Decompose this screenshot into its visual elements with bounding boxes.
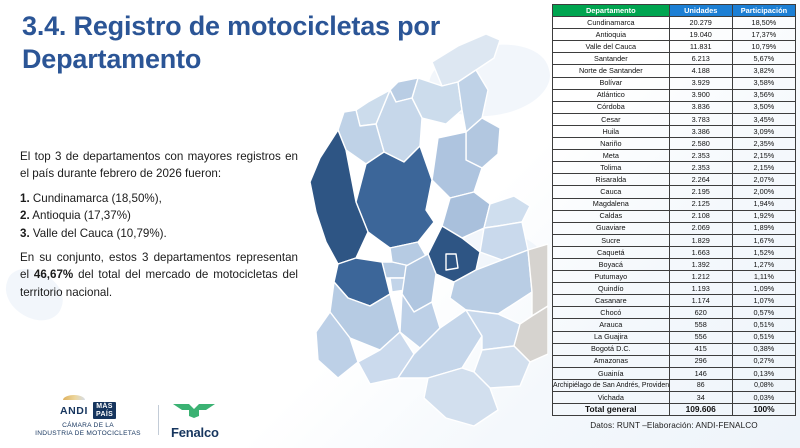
row-department: Chocó xyxy=(553,307,670,319)
table-source-note: Datos: RUNT –Elaboración: ANDI-FENALCO xyxy=(552,421,796,430)
row-units: 1.193 xyxy=(669,283,732,295)
row-units: 146 xyxy=(669,367,732,379)
table-row[interactable]: Antioquia19.04017,37% xyxy=(553,29,796,41)
table-row[interactable]: Cesar3.7833,45% xyxy=(553,113,796,125)
row-department: Amazonas xyxy=(553,355,670,367)
row-department: Guainía xyxy=(553,367,670,379)
row-department: Casanare xyxy=(553,295,670,307)
row-units: 1.212 xyxy=(669,271,732,283)
row-department: Guaviare xyxy=(553,222,670,234)
ranking-item-3: 3. Valle del Cauca (10,79%). xyxy=(20,225,298,242)
table-row[interactable]: Córdoba3.8363,50% xyxy=(553,101,796,113)
andi-wordmark: ANDI xyxy=(60,405,88,417)
table-row[interactable]: Caldas2.1081,92% xyxy=(553,210,796,222)
map-region-arauca xyxy=(484,196,530,228)
table-header: Departamento Unidades Participación xyxy=(553,5,796,17)
row-share: 2,07% xyxy=(732,174,795,186)
logo-divider xyxy=(158,405,159,435)
ranking-number-3: 3. xyxy=(20,227,30,240)
row-units: 34 xyxy=(669,392,732,404)
ranking-number-2: 2. xyxy=(20,209,30,222)
table-row[interactable]: Tolima2.3532,15% xyxy=(553,162,796,174)
table-header-row: Departamento Unidades Participación xyxy=(553,5,796,17)
row-share: 0,57% xyxy=(732,307,795,319)
table-row[interactable]: Cundinamarca20.27918,50% xyxy=(553,17,796,29)
table-row[interactable]: Bolívar3.9293,58% xyxy=(553,77,796,89)
row-share: 0,27% xyxy=(732,355,795,367)
total-share: 100% xyxy=(732,404,795,416)
row-units: 415 xyxy=(669,343,732,355)
row-department: Antioquia xyxy=(553,29,670,41)
fenalco-bird-icon xyxy=(172,400,218,418)
row-share: 3,45% xyxy=(732,113,795,125)
row-share: 2,35% xyxy=(732,138,795,150)
row-units: 19.040 xyxy=(669,29,732,41)
table-row[interactable]: Cauca2.1952,00% xyxy=(553,186,796,198)
mas-pais-line-2: PAÍS xyxy=(96,411,113,418)
table-row[interactable]: Quindío1.1931,09% xyxy=(553,283,796,295)
row-share: 1,94% xyxy=(732,198,795,210)
row-units: 558 xyxy=(669,319,732,331)
row-department: Santander xyxy=(553,53,670,65)
table-row[interactable]: Atlántico3.9003,56% xyxy=(553,89,796,101)
table-row[interactable]: Norte de Santander4.1883,82% xyxy=(553,65,796,77)
ranking-number-1: 1. xyxy=(20,192,30,205)
row-share: 0,51% xyxy=(732,319,795,331)
row-share: 2,00% xyxy=(732,186,795,198)
narrative-intro: El top 3 de departamentos con mayores re… xyxy=(20,148,298,183)
map-region-vichada xyxy=(528,244,548,316)
total-label: Total general xyxy=(553,404,670,416)
row-units: 86 xyxy=(669,379,732,391)
table-row[interactable]: Vichada340,03% xyxy=(553,392,796,404)
row-department: Quindío xyxy=(553,283,670,295)
row-department: Vichada xyxy=(553,392,670,404)
row-units: 2.264 xyxy=(669,174,732,186)
row-department: Archipiélago de San Andrés, Providencia … xyxy=(553,379,670,391)
row-share: 0,13% xyxy=(732,367,795,379)
department-registrations-table: Departamento Unidades Participación Cund… xyxy=(552,4,796,416)
row-units: 2.108 xyxy=(669,210,732,222)
ranking-label-3: Valle del Cauca (10,79%). xyxy=(33,227,167,240)
andi-wordmark-group: ANDI xyxy=(60,395,88,419)
row-share: 1,52% xyxy=(732,246,795,258)
row-department: Atlántico xyxy=(553,89,670,101)
row-department: Huila xyxy=(553,125,670,137)
row-department: Meta xyxy=(553,150,670,162)
row-share: 0,51% xyxy=(732,331,795,343)
table-row[interactable]: Risaralda2.2642,07% xyxy=(553,174,796,186)
row-units: 2.069 xyxy=(669,222,732,234)
row-share: 0,08% xyxy=(732,379,795,391)
row-units: 3.386 xyxy=(669,125,732,137)
row-department: Norte de Santander xyxy=(553,65,670,77)
row-share: 1,67% xyxy=(732,234,795,246)
andi-subtitle: CÁMARA DE LA INDUSTRIA DE MOTOCICLETAS xyxy=(24,422,152,438)
table-row[interactable]: Sucre1.8291,67% xyxy=(553,234,796,246)
table-row[interactable]: Nariño2.5802,35% xyxy=(553,138,796,150)
top3-ranking-list: 1. Cundinamarca (18,50%), 2. Antioquia (… xyxy=(20,190,298,242)
table-row[interactable]: Arauca5580,51% xyxy=(553,319,796,331)
row-department: Valle del Cauca xyxy=(553,41,670,53)
row-department: Risaralda xyxy=(553,174,670,186)
andi-logo-top: ANDI MÁS PAÍS xyxy=(24,402,152,419)
row-department: Nariño xyxy=(553,138,670,150)
table-row[interactable]: Amazonas2960,27% xyxy=(553,355,796,367)
row-department: La Guajira xyxy=(553,331,670,343)
row-share: 1,11% xyxy=(732,271,795,283)
fenalco-logo: Fenalco xyxy=(171,400,219,440)
row-share: 10,79% xyxy=(732,41,795,53)
row-units: 11.831 xyxy=(669,41,732,53)
table-row[interactable]: Casanare1.1741,07% xyxy=(553,295,796,307)
row-share: 3,56% xyxy=(732,89,795,101)
row-department: Tolima xyxy=(553,162,670,174)
row-share: 18,50% xyxy=(732,17,795,29)
row-units: 296 xyxy=(669,355,732,367)
row-share: 1,92% xyxy=(732,210,795,222)
row-units: 1.392 xyxy=(669,258,732,270)
row-department: Caquetá xyxy=(553,246,670,258)
row-units: 2.195 xyxy=(669,186,732,198)
row-department: Cundinamarca xyxy=(553,17,670,29)
row-share: 0,03% xyxy=(732,392,795,404)
row-department: Arauca xyxy=(553,319,670,331)
column-header-departamento[interactable]: Departamento xyxy=(553,5,670,17)
row-units: 2.353 xyxy=(669,162,732,174)
row-department: Boyacá xyxy=(553,258,670,270)
andi-subtitle-line-2: INDUSTRIA DE MOTOCICLETAS xyxy=(24,430,152,438)
table-row[interactable]: Bogotá D.C.4150,38% xyxy=(553,343,796,355)
row-share: 3,82% xyxy=(732,65,795,77)
row-units: 20.279 xyxy=(669,17,732,29)
mas-pais-badge: MÁS PAÍS xyxy=(93,402,116,419)
table-row[interactable]: La Guajira5560,51% xyxy=(553,331,796,343)
row-units: 2.580 xyxy=(669,138,732,150)
footer-logos: ANDI MÁS PAÍS CÁMARA DE LA INDUSTRIA DE … xyxy=(24,398,264,442)
row-department: Putumayo xyxy=(553,271,670,283)
row-department: Magdalena xyxy=(553,198,670,210)
row-units: 1.174 xyxy=(669,295,732,307)
row-units: 4.188 xyxy=(669,65,732,77)
colombia-choropleth-map xyxy=(286,6,548,430)
slide-canvas: 3.4. Registro de motocicletas por Depart… xyxy=(0,0,800,448)
row-department: Caldas xyxy=(553,210,670,222)
row-share: 0,38% xyxy=(732,343,795,355)
mas-pais-line-1: MÁS xyxy=(96,403,113,410)
andi-swoosh-icon xyxy=(63,395,85,400)
row-share: 1,89% xyxy=(732,222,795,234)
row-units: 3.929 xyxy=(669,77,732,89)
table-row[interactable]: Chocó6200,57% xyxy=(553,307,796,319)
row-department: Cauca xyxy=(553,186,670,198)
column-header-participacion[interactable]: Participación xyxy=(732,5,795,17)
map-region-bogota-dc xyxy=(446,254,458,270)
table-total-row: Total general 109.606 100% xyxy=(553,404,796,416)
row-share: 17,37% xyxy=(732,29,795,41)
table-row[interactable]: Putumayo1.2121,11% xyxy=(553,271,796,283)
table-row[interactable]: Caquetá1.6631,52% xyxy=(553,246,796,258)
row-units: 1.829 xyxy=(669,234,732,246)
table-row[interactable]: Santander6.2135,67% xyxy=(553,53,796,65)
table-row[interactable]: Boyacá1.3921,27% xyxy=(553,258,796,270)
ranking-item-1: 1. Cundinamarca (18,50%), xyxy=(20,190,298,207)
row-units: 2.353 xyxy=(669,150,732,162)
table-row[interactable]: Meta2.3532,15% xyxy=(553,150,796,162)
table-row[interactable]: Guaviare2.0691,89% xyxy=(553,222,796,234)
table-row[interactable]: Magdalena2.1251,94% xyxy=(553,198,796,210)
row-department: Bolívar xyxy=(553,77,670,89)
row-units: 556 xyxy=(669,331,732,343)
row-units: 2.125 xyxy=(669,198,732,210)
row-units: 1.663 xyxy=(669,246,732,258)
narrative-summary: En su conjunto, estos 3 departamentos re… xyxy=(20,249,298,301)
ranking-item-2: 2. Antioquia (17,37%) xyxy=(20,207,298,224)
table-row[interactable]: Huila3.3863,09% xyxy=(553,125,796,137)
row-units: 3.836 xyxy=(669,101,732,113)
department-registrations-table-container: Departamento Unidades Participación Cund… xyxy=(552,4,796,430)
table-footer: Total general 109.606 100% xyxy=(553,404,796,416)
row-share: 1,09% xyxy=(732,283,795,295)
row-share: 3,58% xyxy=(732,77,795,89)
row-department: Bogotá D.C. xyxy=(553,343,670,355)
row-units: 3.783 xyxy=(669,113,732,125)
andi-logo: ANDI MÁS PAÍS CÁMARA DE LA INDUSTRIA DE … xyxy=(24,402,152,438)
row-department: Sucre xyxy=(553,234,670,246)
row-share: 3,09% xyxy=(732,125,795,137)
table-body: Cundinamarca20.27918,50%Antioquia19.0401… xyxy=(553,17,796,404)
row-share: 2,15% xyxy=(732,150,795,162)
row-units: 6.213 xyxy=(669,53,732,65)
fenalco-wordmark: Fenalco xyxy=(171,425,219,440)
total-units: 109.606 xyxy=(669,404,732,416)
row-share: 1,07% xyxy=(732,295,795,307)
row-share: 5,67% xyxy=(732,53,795,65)
row-department: Córdoba xyxy=(553,101,670,113)
summary-highlight-value: 46,67% xyxy=(34,268,73,281)
table-row[interactable]: Guainía1460,13% xyxy=(553,367,796,379)
ranking-label-2: Antioquia (17,37%) xyxy=(32,209,131,222)
row-share: 3,50% xyxy=(732,101,795,113)
ranking-label-1: Cundinamarca (18,50%), xyxy=(33,192,162,205)
row-share: 2,15% xyxy=(732,162,795,174)
row-units: 3.900 xyxy=(669,89,732,101)
table-row[interactable]: Archipiélago de San Andrés, Providencia … xyxy=(553,379,796,391)
column-header-unidades[interactable]: Unidades xyxy=(669,5,732,17)
row-units: 620 xyxy=(669,307,732,319)
row-share: 1,27% xyxy=(732,258,795,270)
row-department: Cesar xyxy=(553,113,670,125)
table-row[interactable]: Valle del Cauca11.83110,79% xyxy=(553,41,796,53)
andi-subtitle-line-1: CÁMARA DE LA xyxy=(24,422,152,430)
narrative-text-block: El top 3 de departamentos con mayores re… xyxy=(20,148,298,301)
